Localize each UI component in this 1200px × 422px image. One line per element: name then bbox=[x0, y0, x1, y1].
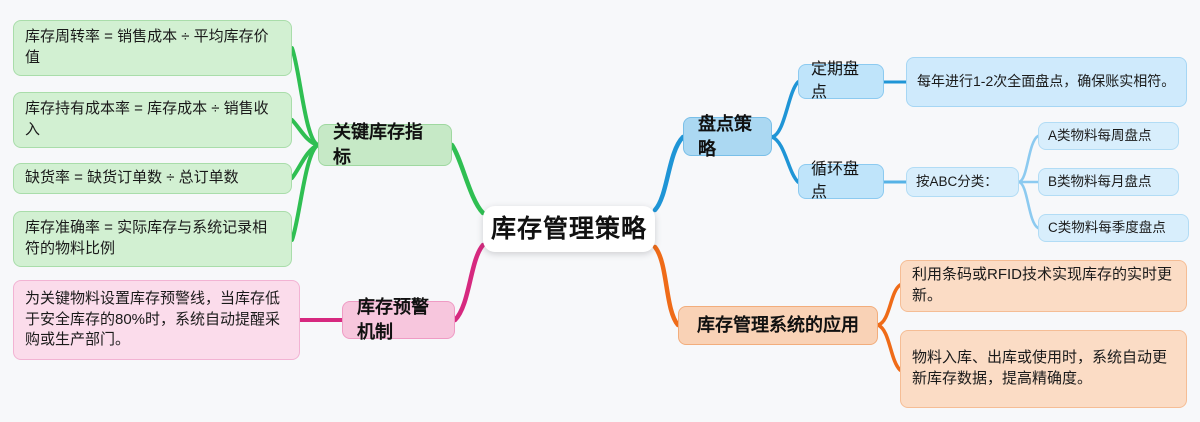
connector-abc-leaf-0 bbox=[1019, 136, 1038, 182]
branch-node-alert-mechanism-label: 库存预警机制 bbox=[357, 295, 440, 345]
mindmap-canvas: 库存管理策略 关键库存指标 库存周转率 = 销售成本 ÷ 平均库存价值 库存持有… bbox=[0, 0, 1200, 422]
leaf-node-abc-classification[interactable]: 按ABC分类： bbox=[906, 167, 1019, 197]
connector-wms-leaf-1 bbox=[878, 325, 900, 370]
root-node[interactable]: 库存管理策略 bbox=[483, 206, 655, 252]
connector-abc-leaf-2 bbox=[1019, 182, 1038, 228]
sub-node-periodic-count-label: 定期盘点 bbox=[811, 59, 871, 103]
connector-root-to-counting bbox=[655, 137, 683, 210]
leaf-node-abc-class-b-label: B类物料每月盘点 bbox=[1048, 173, 1152, 192]
connector-root-to-alert bbox=[455, 245, 483, 320]
connector-wms-leaf-0 bbox=[878, 285, 900, 325]
connector-key-metrics-leaf-2 bbox=[292, 145, 318, 178]
leaf-node-auto-update[interactable]: 物料入库、出库或使用时，系统自动更新库存数据，提高精确度。 bbox=[900, 330, 1187, 408]
leaf-node-stockout-rate[interactable]: 缺货率 = 缺货订单数 ÷ 总订单数 bbox=[13, 163, 292, 194]
connector-key-metrics-leaf-0 bbox=[292, 48, 318, 145]
leaf-node-periodic-count-detail-label: 每年进行1-2次全面盘点，确保账实相符。 bbox=[917, 72, 1175, 91]
leaf-node-holding-cost-rate[interactable]: 库存持有成本率 = 库存成本 ÷ 销售收入 bbox=[13, 92, 292, 148]
leaf-node-abc-class-c[interactable]: C类物料每季度盘点 bbox=[1038, 214, 1189, 242]
branch-node-key-metrics[interactable]: 关键库存指标 bbox=[318, 124, 452, 166]
leaf-node-abc-class-a[interactable]: A类物料每周盘点 bbox=[1038, 122, 1179, 150]
branch-node-counting-strategy-label: 盘点策略 bbox=[698, 112, 757, 162]
leaf-node-alert-threshold-label: 为关键物料设置库存预警线，当库存低于安全库存的80%时，系统自动提醒采购或生产部… bbox=[25, 289, 288, 351]
leaf-node-inventory-turnover[interactable]: 库存周转率 = 销售成本 ÷ 平均库存价值 bbox=[13, 20, 292, 76]
leaf-node-holding-cost-rate-label: 库存持有成本率 = 库存成本 ÷ 销售收入 bbox=[25, 99, 280, 140]
leaf-node-abc-class-b[interactable]: B类物料每月盘点 bbox=[1038, 168, 1179, 196]
leaf-node-periodic-count-detail[interactable]: 每年进行1-2次全面盘点，确保账实相符。 bbox=[906, 57, 1187, 107]
leaf-node-inventory-accuracy[interactable]: 库存准确率 = 实际库存与系统记录相符的物料比例 bbox=[13, 211, 292, 267]
leaf-node-stockout-rate-label: 缺货率 = 缺货订单数 ÷ 总订单数 bbox=[25, 168, 239, 189]
connector-root-to-wms bbox=[655, 247, 678, 325]
connector-key-metrics-leaf-1 bbox=[292, 120, 318, 145]
connector-counting-to-periodic bbox=[772, 82, 798, 137]
leaf-node-inventory-turnover-label: 库存周转率 = 销售成本 ÷ 平均库存价值 bbox=[25, 27, 280, 68]
connector-root-to-key-metrics bbox=[452, 145, 483, 213]
leaf-node-abc-classification-label: 按ABC分类： bbox=[916, 173, 998, 192]
branch-node-key-metrics-label: 关键库存指标 bbox=[333, 120, 437, 170]
leaf-node-abc-class-a-label: A类物料每周盘点 bbox=[1048, 127, 1152, 146]
leaf-node-inventory-accuracy-label: 库存准确率 = 实际库存与系统记录相符的物料比例 bbox=[25, 218, 280, 259]
branch-node-alert-mechanism[interactable]: 库存预警机制 bbox=[342, 301, 455, 339]
leaf-node-alert-threshold[interactable]: 为关键物料设置库存预警线，当库存低于安全库存的80%时，系统自动提醒采购或生产部… bbox=[13, 280, 300, 360]
branch-node-counting-strategy[interactable]: 盘点策略 bbox=[683, 117, 772, 156]
branch-node-wms-application[interactable]: 库存管理系统的应用 bbox=[678, 306, 878, 345]
sub-node-cycle-count-label: 循环盘点 bbox=[811, 159, 871, 203]
branch-node-wms-application-label: 库存管理系统的应用 bbox=[697, 313, 859, 338]
leaf-node-auto-update-label: 物料入库、出库或使用时，系统自动更新库存数据，提高精确度。 bbox=[912, 348, 1175, 389]
connector-key-metrics-leaf-3 bbox=[292, 145, 318, 240]
connector-counting-to-cycle bbox=[772, 137, 798, 182]
leaf-node-abc-class-c-label: C类物料每季度盘点 bbox=[1048, 219, 1166, 238]
leaf-node-barcode-rfid-label: 利用条码或RFID技术实现库存的实时更新。 bbox=[912, 265, 1175, 306]
root-node-label: 库存管理策略 bbox=[491, 212, 647, 247]
leaf-node-barcode-rfid[interactable]: 利用条码或RFID技术实现库存的实时更新。 bbox=[900, 260, 1187, 312]
sub-node-cycle-count[interactable]: 循环盘点 bbox=[798, 164, 884, 199]
sub-node-periodic-count[interactable]: 定期盘点 bbox=[798, 64, 884, 99]
